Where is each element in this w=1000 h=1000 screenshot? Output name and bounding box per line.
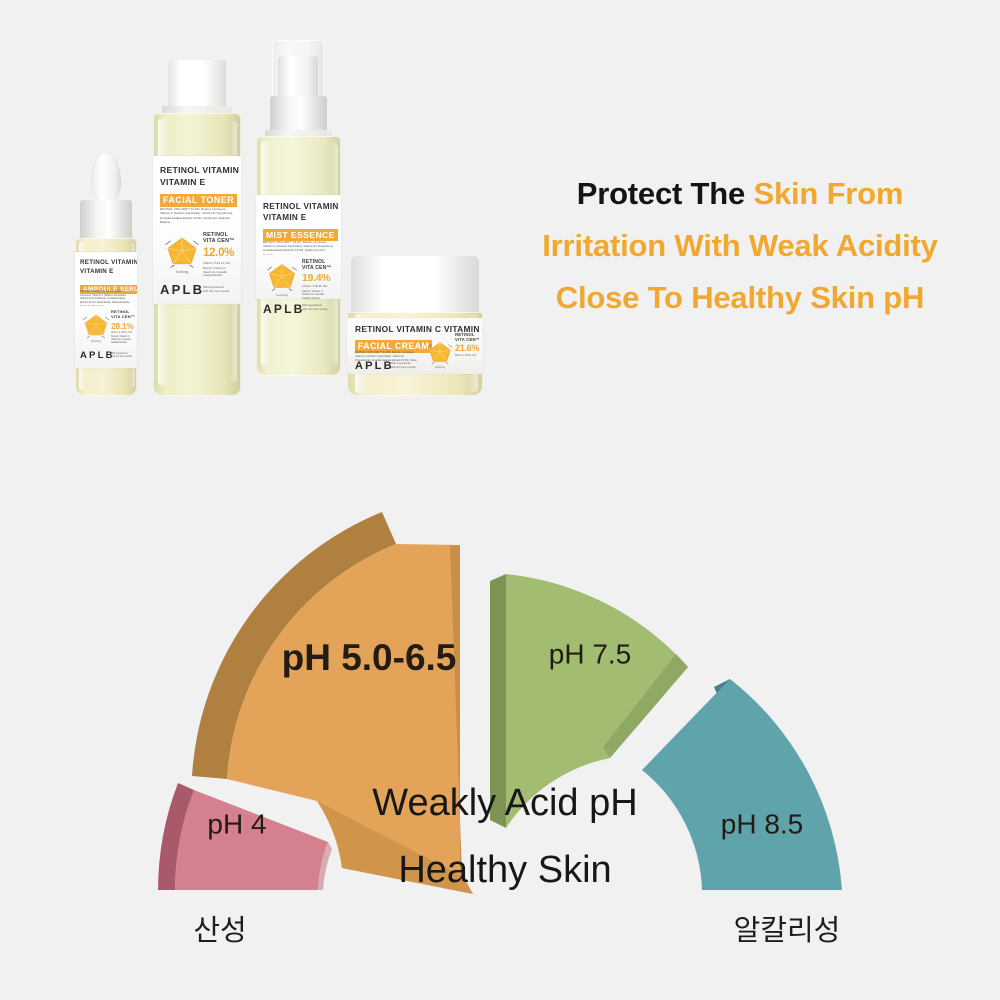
mist-hex-caption: Soothing	[264, 293, 300, 297]
serum-hex-caption: Soothing	[81, 340, 111, 343]
headline-line-1-dark: Protect The	[577, 176, 754, 211]
cream-tagline: Mild ingredients with the best results	[391, 362, 421, 370]
mist-brand: APLB	[263, 302, 304, 316]
mist-label-line2: VITAMIN E	[263, 213, 307, 222]
ph-segment-ph85-face	[642, 679, 842, 890]
serum-brand: APLB	[80, 350, 115, 361]
mist-tagline: Mild ingredients with the best results	[302, 304, 332, 312]
ph-segment-ph5-65-label: pH 5.0-6.5	[282, 637, 457, 678]
serum-label-line2: VITAMIN E	[80, 268, 114, 275]
gauge-left-korean-label: 산성	[193, 913, 246, 947]
mist-percent: 19.4%	[302, 272, 330, 284]
headline-line-2-accent: Irritation With Weak Acidity	[542, 228, 937, 263]
mist-label-line1: RETINOL VITAMIN C	[263, 202, 341, 211]
serum-tagline: Mild ingredients with the best results	[111, 352, 133, 358]
cream-jar-lid	[351, 256, 479, 316]
toner-ingredients: RETINOL VITA CEN™ 12.0%, Retinol, Limone…	[160, 207, 234, 225]
cream-label: RETINOL VITAMIN C VITAMIN E FACIAL CREAM…	[347, 318, 483, 374]
toner-brand: APLB	[160, 282, 204, 297]
toner-label-line2: VITAMIN E	[160, 177, 206, 187]
honeycomb-pentagon-icon	[425, 338, 455, 366]
ph-segment-ph75-label: pH 7.5	[549, 638, 632, 669]
gauge-center-line-2: Healthy Skin	[398, 849, 611, 891]
ph-segment-ph85[interactable]	[642, 679, 842, 898]
toner-percent: 12.0%	[203, 247, 234, 259]
serum-ingredients: RETINOL VITA CEN™ 28.1%, Retinol, Limone…	[80, 290, 132, 306]
cream-brand: APLB	[355, 360, 394, 372]
toner-volume: 160ml / 5.41 FL.OZ.	[203, 261, 231, 265]
gauge-center-line-1: Weakly Acid pH	[372, 782, 637, 824]
headline: Protect The Skin From Irritation With We…	[500, 168, 980, 324]
cream-hex-graphic: Soothing	[425, 338, 455, 372]
serum-label: RETINOL VITAMIN C VITAMIN E AMPOULE SERU…	[75, 252, 137, 368]
mist-key-ingredients: Retinol, Vitamin C, Vitamin E, Centella …	[302, 290, 332, 299]
serum-percent: 28.1%	[111, 321, 134, 331]
headline-line-3: Close To Healthy Skin pH	[500, 272, 980, 324]
dropper-bulb-icon	[91, 152, 121, 204]
toner-hex-caption: Soothing	[162, 270, 202, 274]
mist-rvc-label: RETINOL VITA CEN™	[302, 259, 332, 271]
cream-percent: 21.6%	[455, 343, 479, 353]
honeycomb-pentagon-icon	[81, 310, 111, 340]
mist-collar	[270, 96, 327, 132]
marketing-graphic: Protect The Skin From Irritation With We…	[0, 0, 1000, 1000]
product-facial-cream[interactable]: RETINOL VITAMIN C VITAMIN E FACIAL CREAM…	[345, 256, 485, 398]
cream-hex-caption: Soothing	[425, 366, 455, 369]
toner-key-ingredients: Retinol, Vitamin C, Vitamin E, Centella …	[203, 267, 234, 278]
ph-gauge-chart: pH 4 pH 5.0-6.5 pH 7.5	[120, 470, 900, 950]
headline-line-1-accent: Skin From	[753, 176, 903, 211]
product-lineup: RETINOL VITAMIN C VITAMIN E AMPOULE SERU…	[0, 0, 500, 440]
ph-segment-ph4-label: pH 4	[207, 808, 266, 839]
mist-volume: 100ml / 3.38 FL.OZ.	[302, 285, 328, 289]
serum-label-line1: RETINOL VITAMIN C	[80, 259, 137, 266]
headline-line-2: Irritation With Weak Acidity	[500, 220, 980, 272]
serum-key-ingredients: Retinol, Vitamin C, Vitamin E, Centella …	[111, 336, 133, 345]
toner-hex-graphic: Soothing	[162, 232, 202, 278]
toner-label-line1: RETINOL VITAMIN C	[160, 165, 241, 175]
mist-spray-head-icon	[278, 56, 318, 98]
serum-volume: 40ml / 1.35 FL.OZ.	[111, 331, 133, 334]
toner-rvc-label: RETINOL VITA CEN™	[203, 232, 235, 245]
toner-label: RETINOL VITAMIN C VITAMIN E FACIAL TONER…	[153, 156, 241, 304]
serum-hex-graphic: Soothing	[81, 310, 111, 346]
product-ampoule-serum[interactable]: RETINOL VITAMIN C VITAMIN E AMPOULE SERU…	[68, 150, 144, 398]
ph-gauge-svg: pH 4 pH 5.0-6.5 pH 7.5	[120, 470, 900, 950]
mist-hex-graphic: Soothing	[264, 259, 300, 299]
headline-line-3-accent: Close To Healthy Skin pH	[556, 280, 924, 315]
toner-category-badge: FACIAL TONER	[160, 194, 237, 207]
product-facial-toner[interactable]: RETINOL VITAMIN C VITAMIN E FACIAL TONER…	[148, 60, 246, 398]
cream-volume: 50ml / 1.69 FL.OZ.	[455, 354, 477, 357]
mist-label: RETINOL VITAMIN C VITAMIN E MIST ESSENCE…	[256, 195, 341, 299]
honeycomb-pentagon-icon	[264, 259, 300, 293]
serum-rvc-label: RETINOL VITA CEN™	[111, 310, 135, 320]
toner-tagline: Mild ingredients with the best results	[203, 285, 234, 293]
ph-segment-ph85-label: pH 8.5	[721, 808, 804, 839]
gauge-right-korean-label: 알칼리성	[734, 913, 841, 947]
dropper-collar	[80, 200, 132, 240]
mist-ingredients: RETINOL VITA CEN™ 19.4%, Retinol, Limone…	[263, 240, 334, 255]
honeycomb-pentagon-icon	[162, 232, 202, 270]
headline-line-1: Protect The Skin From	[500, 168, 980, 220]
product-mist-essence[interactable]: RETINOL VITAMIN C VITAMIN E MIST ESSENCE…	[252, 40, 346, 398]
cream-rvc-label: RETINOL VITA CEN™	[455, 332, 480, 342]
toner-cap	[168, 60, 226, 108]
ph-segment-ph4-face	[175, 790, 328, 890]
